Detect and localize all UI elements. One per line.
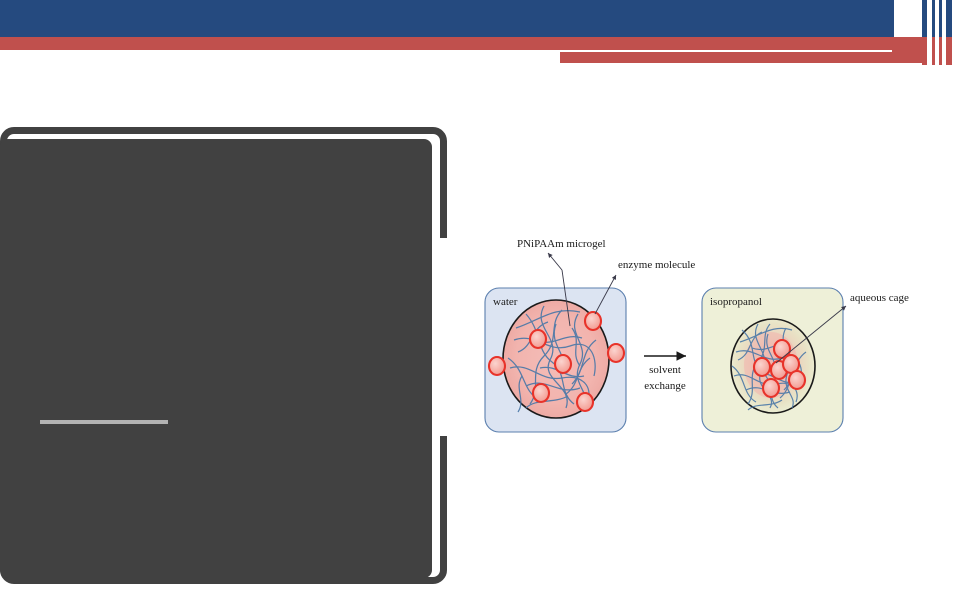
content-bullet-rule (40, 420, 168, 424)
accent-stripe-1 (922, 0, 927, 37)
slide-canvas: water solvent exchange (0, 0, 960, 601)
leader-line-microgel (548, 253, 562, 270)
figure-solvent-exchange: water solvent exchange (470, 228, 950, 448)
panel-isopropanol: isopropanol (702, 288, 843, 432)
callout-cage-label: aqueous cage (850, 292, 909, 304)
label-water: water (493, 296, 518, 308)
header-accent-stripes (894, 0, 960, 65)
enzyme-molecule (754, 358, 770, 376)
enzyme-molecule (577, 393, 593, 411)
enzyme-molecule (608, 344, 624, 362)
arrow-label-line2: exchange (644, 380, 686, 392)
accent-stripe-3 (939, 0, 942, 37)
callout-microgel-label: PNiPAAm microgel (517, 238, 606, 250)
solvent-exchange-arrow-group: solvent exchange (644, 356, 686, 392)
header-blue-band (0, 0, 894, 37)
header-red-band (0, 37, 925, 50)
enzyme-molecule (530, 330, 546, 348)
label-isopropanol: isopropanol (710, 296, 762, 308)
accent-gap-1 (927, 37, 932, 65)
enzyme-molecule (585, 312, 601, 330)
enzyme-molecule (489, 357, 505, 375)
callout-enzyme-label: enzyme molecule (618, 259, 695, 271)
accent-gap-2 (935, 37, 939, 65)
accent-stripe-2 (932, 0, 935, 37)
header-red-extension-lower (560, 52, 776, 63)
panel-water: water (485, 288, 626, 432)
arrow-label-line1: solvent (649, 364, 681, 376)
content-panel[interactable] (0, 139, 432, 578)
enzyme-molecule (555, 355, 571, 373)
enzyme-molecule (763, 379, 779, 397)
enzyme-molecule (789, 371, 805, 389)
accent-gap-4 (952, 0, 960, 65)
accent-gap-3 (942, 37, 946, 65)
enzyme-molecule (533, 384, 549, 402)
